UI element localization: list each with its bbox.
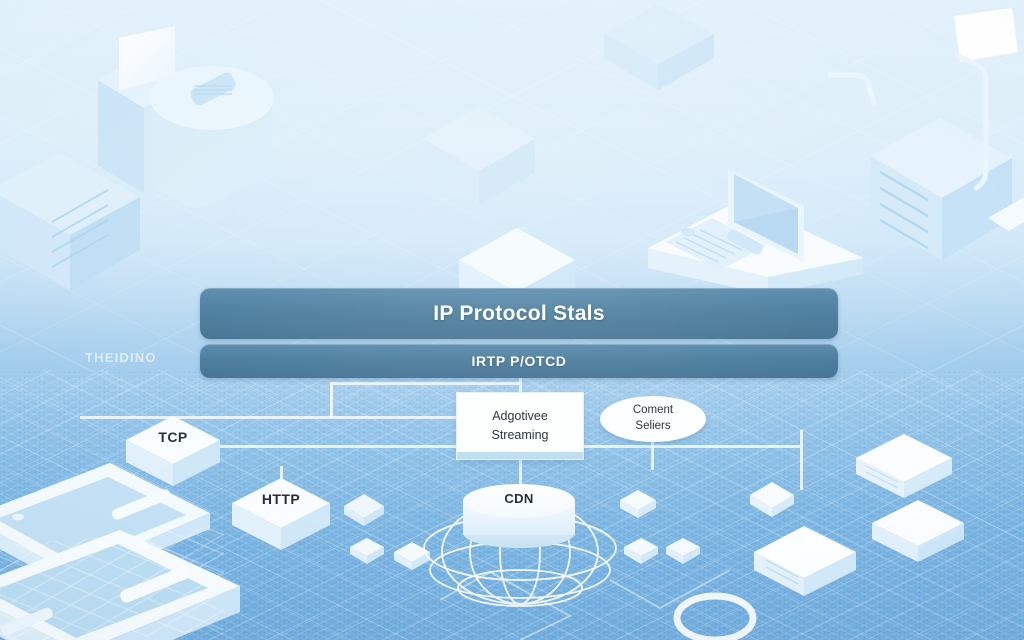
connector-line [651,438,654,470]
node-content-servers-line1: Coment [633,403,673,419]
node-adaptive-line1: Adgotivee [492,407,548,426]
card-accent-strip [457,452,583,459]
network-switch-icon [852,432,956,500]
network-switch-icon [750,524,860,598]
node-cdn-label: CDN [463,491,575,506]
connector-line [584,445,800,448]
node-http[interactable]: HTTP [228,474,334,552]
connector-pipe-icon [828,20,1024,220]
iso-chip-icon [348,536,386,566]
diagram-canvas: THEIDINO [0,0,1024,640]
banner-sub-title: IRTP P/OTCD [471,353,566,369]
node-content-servers[interactable]: Coment Seliers [600,396,706,442]
connector-line [800,430,803,490]
connector-line [330,382,520,385]
iso-cube-icon [415,95,545,205]
banner-main-title: IP Protocol Stals [433,302,605,326]
connector-line [330,382,333,418]
connector-line [190,445,490,448]
node-cdn[interactable]: CDN [463,484,575,546]
circuit-trace [430,560,750,640]
network-switch-icon [868,498,968,564]
iso-chip-icon [342,492,386,528]
iso-chip-icon [748,480,796,518]
device-screen-grid [0,526,224,640]
ghost-label: THEIDINO [85,350,157,365]
iso-chip-icon [618,488,658,520]
node-tcp[interactable]: TCP [122,412,224,488]
screen-panel-icon [113,22,183,100]
node-adaptive-line2: Streaming [492,426,549,445]
banner-sub[interactable]: IRTP P/OTCD [200,344,838,378]
banner-main[interactable]: IP Protocol Stals [200,288,838,339]
node-content-servers-line2: Seliers [635,419,670,435]
iso-cube-icon [600,0,720,90]
node-adaptive-streaming[interactable]: Adgotivee Streaming [456,392,584,460]
